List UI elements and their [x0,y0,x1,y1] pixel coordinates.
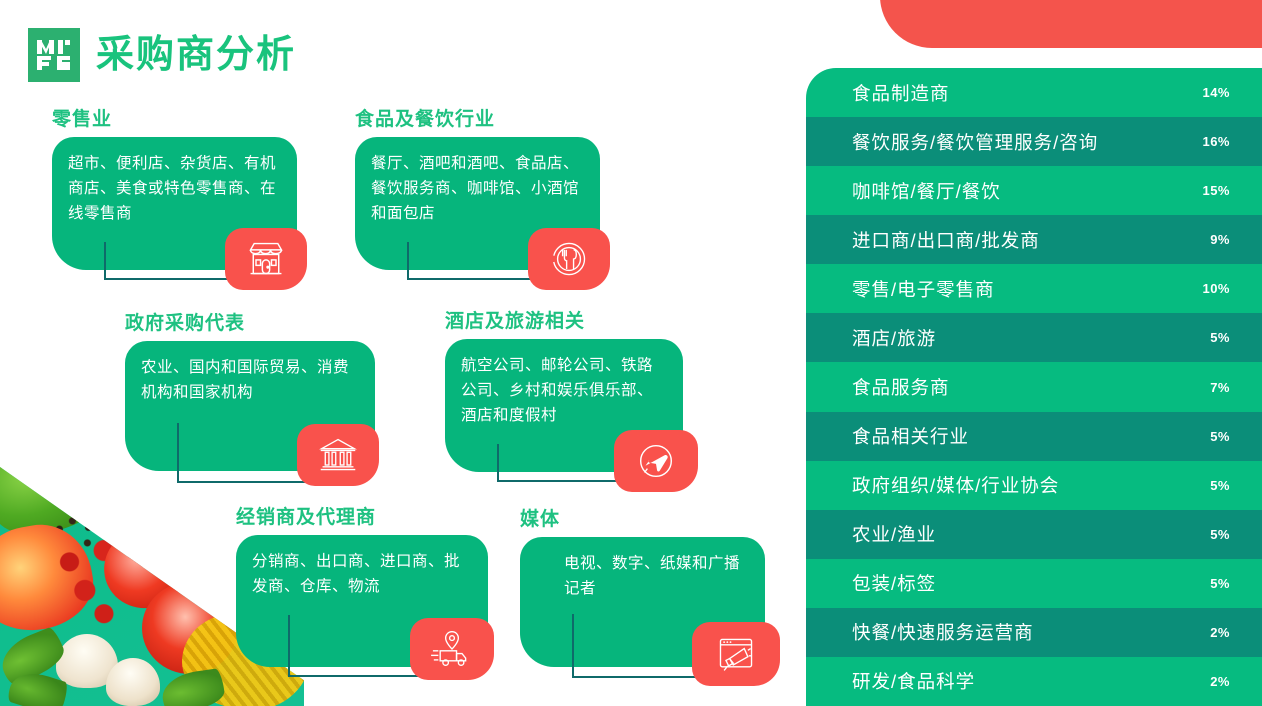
stat-value: 10% [1202,281,1230,296]
card-text: 超市、便利店、杂货店、有机商店、美食或特色零售商、在线零售商 [68,155,276,222]
slide-root: 采购商分析 零售业 超市、便利店、杂货店、有机商店、美食或特色零售商、在线零售商… [0,0,1262,706]
dining-plate-icon-tile [528,228,610,290]
delivery-truck-icon [429,629,475,669]
connector-horizontal [177,481,319,483]
connector-horizontal [407,278,547,280]
delivery-truck-icon-tile [410,618,494,680]
stat-value: 2% [1210,674,1230,689]
stat-value: 5% [1210,478,1230,493]
stat-row[interactable]: 农业/渔业 5% [806,510,1262,559]
stat-row[interactable]: 快餐/快速服务运营商 2% [806,608,1262,657]
connector-vertical [407,242,409,280]
stat-value: 2% [1210,625,1230,640]
stat-row[interactable]: 政府组织/媒体/行业协会 5% [806,461,1262,510]
stat-label: 研发/食品科学 [852,668,975,694]
stat-label: 快餐/快速服务运营商 [852,619,1034,645]
connector-horizontal [288,675,430,677]
connector-vertical [177,423,179,483]
connector-horizontal [572,676,710,678]
storefront-icon-tile [225,228,307,290]
card-title: 食品及餐饮行业 [355,104,613,131]
stat-value: 5% [1210,429,1230,444]
buyer-breakdown-panel: 食品制造商 14% 餐饮服务/餐饮管理服务/咨询 16% 咖啡馆/餐厅/餐饮 1… [806,68,1262,706]
basil-leaf-decor-3 [160,668,227,706]
card-text: 餐厅、酒吧和酒吧、食品店、餐饮服务商、咖啡馆、小酒馆和面包店 [371,155,579,222]
stat-row[interactable]: 食品制造商 14% [806,68,1262,117]
stat-label: 政府组织/媒体/行业协会 [852,472,1059,498]
stat-value: 5% [1210,576,1230,591]
government-building-icon [316,435,360,475]
media-megaphone-icon [712,633,760,675]
connector-vertical [497,444,499,482]
media-megaphone-icon-tile [692,622,780,686]
stat-value: 5% [1210,527,1230,542]
card-title: 酒店及旅游相关 [445,306,695,333]
card-title: 零售业 [52,104,310,131]
stat-row[interactable]: 零售/电子零售商 10% [806,264,1262,313]
connector-vertical [288,615,290,677]
stat-row[interactable]: 咖啡馆/餐厅/餐饮 15% [806,166,1262,215]
stat-value: 7% [1210,380,1230,395]
stat-value: 9% [1210,232,1230,247]
stat-label: 食品服务商 [852,374,950,400]
mifb-logo [28,28,80,82]
stat-label: 包装/标签 [852,570,936,596]
red-accent-shape [880,0,1262,48]
stat-label: 餐饮服务/餐饮管理服务/咨询 [852,129,1098,155]
stat-row[interactable]: 研发/食品科学 2% [806,657,1262,706]
stat-row[interactable]: 餐饮服务/餐饮管理服务/咨询 16% [806,117,1262,166]
card-title: 政府采购代表 [125,308,387,335]
mushroom-decor-2 [106,658,160,706]
stat-label: 咖啡馆/餐厅/餐饮 [852,178,1001,204]
stat-row[interactable]: 食品相关行业 5% [806,412,1262,461]
card-title: 经销商及代理商 [236,502,500,529]
stat-row[interactable]: 酒店/旅游 5% [806,313,1262,362]
stat-label: 食品相关行业 [852,423,969,449]
stat-value: 14% [1202,85,1230,100]
storefront-icon [244,239,288,279]
card-text: 农业、国内和国际贸易、消费机构和国家机构 [141,359,349,401]
stat-label: 进口商/出口商/批发商 [852,227,1040,253]
stat-label: 食品制造商 [852,80,950,106]
stat-row[interactable]: 包装/标签 5% [806,559,1262,608]
stat-label: 零售/电子零售商 [852,276,995,302]
airplane-travel-icon-tile [614,430,698,492]
connector-horizontal [104,278,244,280]
card-text: 电视、数字、纸媒和广播记者 [564,555,740,597]
stat-value: 5% [1210,330,1230,345]
stat-label: 酒店/旅游 [852,325,936,351]
page-title: 采购商分析 [96,28,296,82]
connector-vertical [104,242,106,280]
stat-value: 16% [1202,134,1230,149]
stat-row[interactable]: 进口商/出口商/批发商 9% [806,215,1262,264]
government-building-icon-tile [297,424,379,486]
connector-vertical [572,614,574,678]
card-text: 分销商、出口商、进口商、批发商、仓库、物流 [252,553,460,595]
dining-plate-icon [546,238,592,280]
stat-row[interactable]: 食品服务商 7% [806,362,1262,411]
airplane-travel-icon [633,439,679,483]
stat-value: 15% [1202,183,1230,198]
stat-label: 农业/渔业 [852,521,936,547]
card-text: 航空公司、邮轮公司、铁路公司、乡村和娱乐俱乐部、酒店和度假村 [461,357,653,424]
card-title: 媒体 [520,504,770,531]
